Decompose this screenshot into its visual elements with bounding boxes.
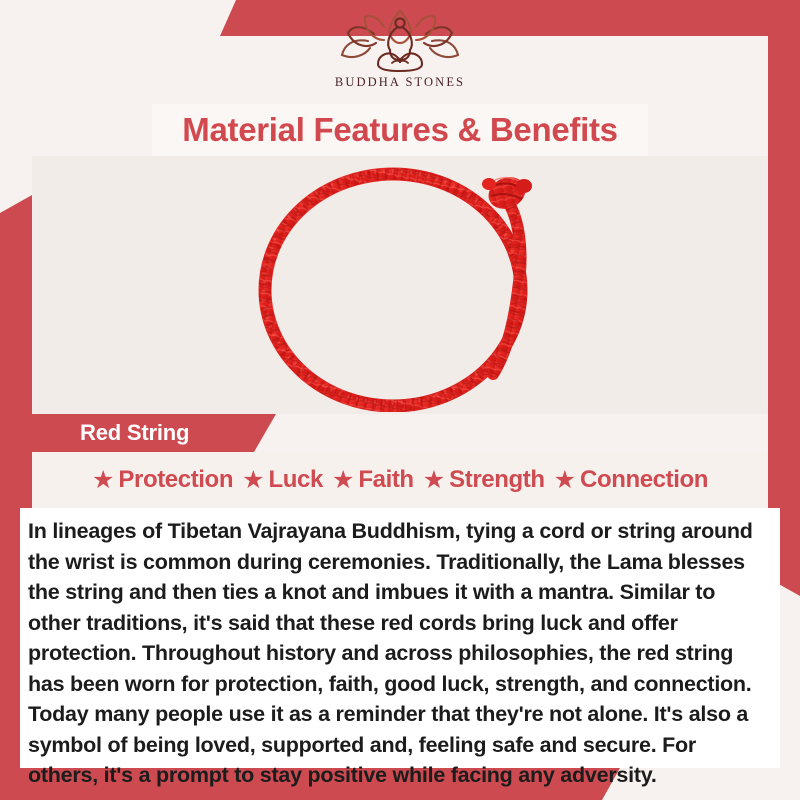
description-text: In lineages of Tibetan Vajrayana Buddhis… xyxy=(28,516,758,791)
product-name-label: Red String xyxy=(28,420,189,446)
benefit-item-connection: ★ Connection xyxy=(554,466,708,494)
benefit-item-luck: ★ Luck xyxy=(242,466,323,494)
star-icon: ★ xyxy=(92,468,114,493)
star-icon: ★ xyxy=(423,468,445,493)
benefits-list: ★ Protection ★ Luck ★ Faith ★ Strength ★… xyxy=(32,452,768,508)
product-name-ribbon: Red String xyxy=(28,414,276,452)
infographic-page: BUDDHA STONES Material Features & Benefi… xyxy=(0,0,800,800)
benefit-label: Faith xyxy=(358,466,413,494)
benefit-label: Luck xyxy=(269,466,323,494)
brand-name: BUDDHA STONES xyxy=(335,75,465,90)
benefit-item-faith: ★ Faith xyxy=(332,466,414,494)
star-icon: ★ xyxy=(242,468,264,493)
product-photo xyxy=(32,156,768,414)
star-icon: ★ xyxy=(554,468,576,493)
benefit-label: Protection xyxy=(118,466,233,494)
benefit-label: Strength xyxy=(449,466,544,494)
page-title: Material Features & Benefits xyxy=(182,111,617,149)
benefit-label: Connection xyxy=(580,466,708,494)
brand-logo: BUDDHA STONES xyxy=(0,8,800,100)
lotus-meditation-icon xyxy=(334,8,466,74)
benefit-item-strength: ★ Strength xyxy=(423,466,545,494)
title-banner: Material Features & Benefits xyxy=(152,104,648,156)
star-icon: ★ xyxy=(332,468,354,493)
benefit-item-protection: ★ Protection xyxy=(92,466,233,494)
description-card: In lineages of Tibetan Vajrayana Buddhis… xyxy=(20,508,780,768)
